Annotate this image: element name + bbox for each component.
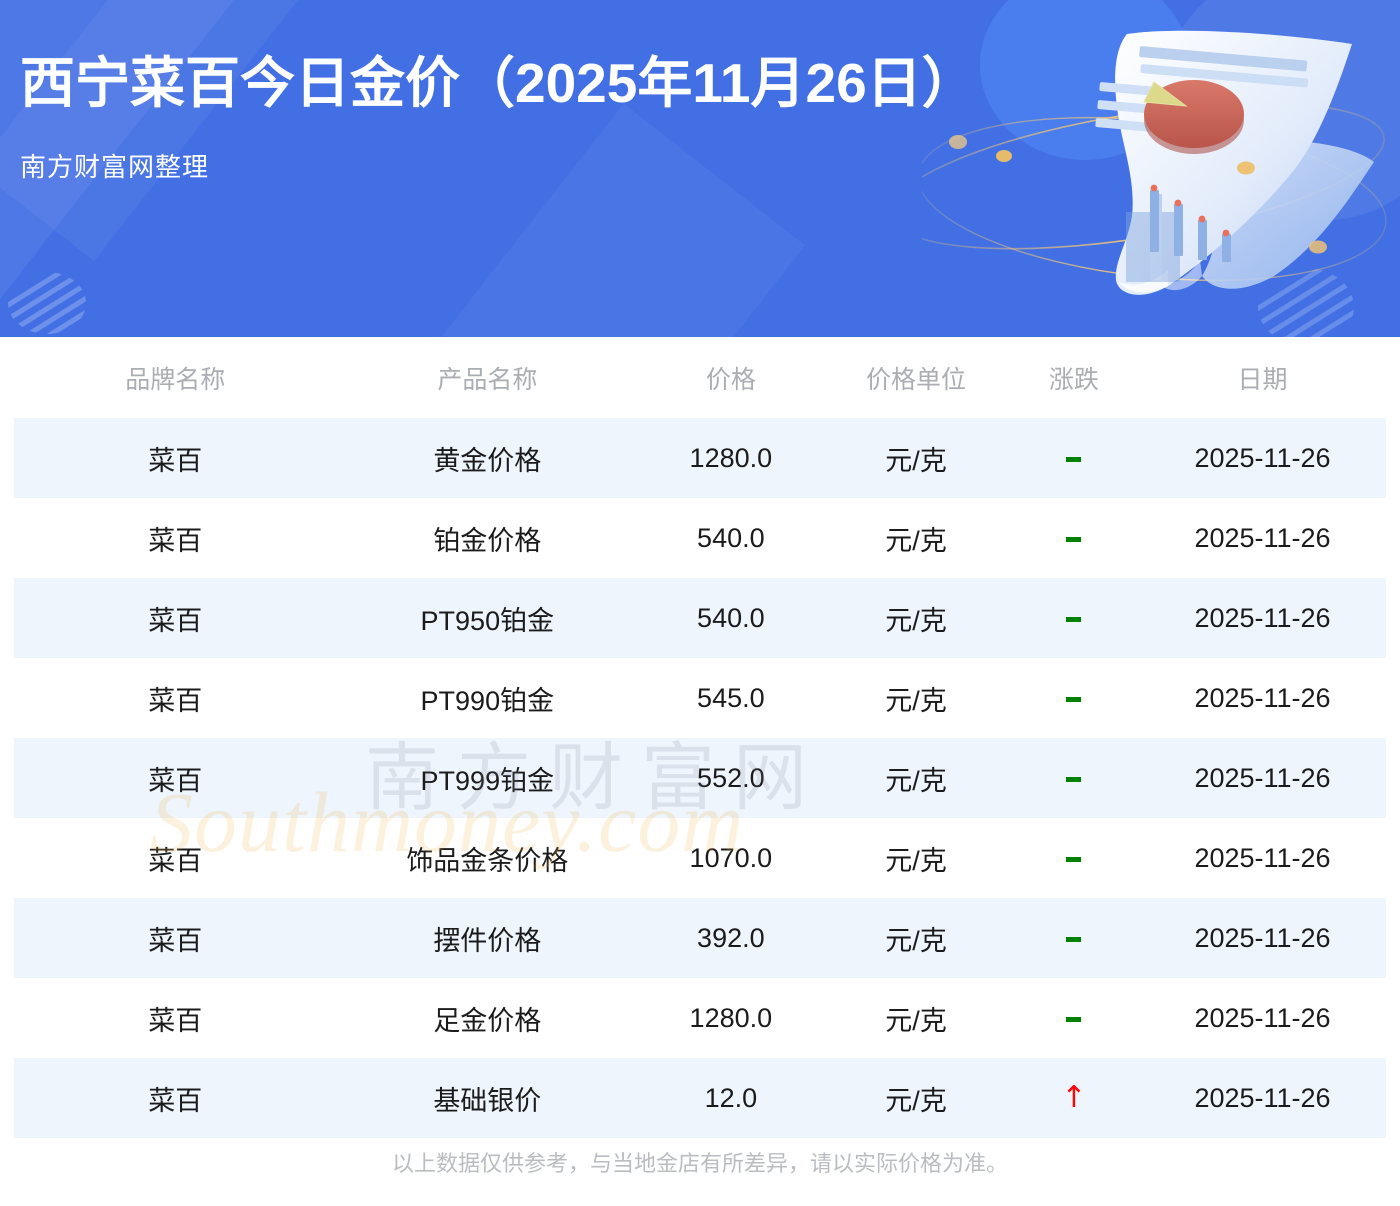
- cell-brand: 菜百: [14, 898, 336, 978]
- cell-unit: 元/克: [823, 738, 1008, 818]
- banner-text-block: 西宁菜百今日金价（2025年11月26日） 南方财富网整理: [20, 52, 977, 184]
- cell-date: 2025-11-26: [1139, 658, 1386, 738]
- column-header-brand: 品牌名称: [14, 337, 336, 418]
- cell-unit: 元/克: [823, 418, 1008, 498]
- banner-subtitle: 南方财富网整理: [20, 147, 977, 184]
- page-root: 西宁菜百今日金价（2025年11月26日） 南方财富网整理: [0, 0, 1400, 1206]
- gold-price-table: 品牌名称 产品名称 价格 价格单位 涨跌 日期 菜百黄金价格1280.0元/克2…: [14, 337, 1386, 1138]
- cell-price: 552.0: [638, 738, 823, 818]
- cell-change: [1009, 738, 1139, 818]
- cell-price: 540.0: [638, 498, 823, 578]
- report-document-illustration: [922, 0, 1392, 334]
- price-table-container: 品牌名称 产品名称 价格 价格单位 涨跌 日期 菜百黄金价格1280.0元/克2…: [0, 337, 1400, 1138]
- cell-product: 黄金价格: [336, 418, 638, 498]
- table-row: 菜百PT950铂金540.0元/克2025-11-26: [14, 578, 1386, 658]
- cell-price: 392.0: [638, 898, 823, 978]
- dash-flat-icon: [1066, 537, 1081, 542]
- dash-flat-icon: [1066, 937, 1081, 942]
- cell-product: PT999铂金: [336, 738, 638, 818]
- cell-unit: 元/克: [823, 498, 1008, 578]
- cell-date: 2025-11-26: [1139, 578, 1386, 658]
- dash-flat-icon: [1066, 697, 1081, 702]
- cell-change: [1009, 418, 1139, 498]
- cell-brand: 菜百: [14, 978, 336, 1058]
- dash-flat-icon: [1066, 457, 1081, 462]
- column-header-unit: 价格单位: [823, 337, 1008, 418]
- cell-date: 2025-11-26: [1139, 418, 1386, 498]
- cell-product: 摆件价格: [336, 898, 638, 978]
- table-header-row: 品牌名称 产品名称 价格 价格单位 涨跌 日期: [14, 337, 1386, 418]
- cell-change: [1009, 498, 1139, 578]
- page-banner: 西宁菜百今日金价（2025年11月26日） 南方财富网整理: [0, 0, 1400, 337]
- arrow-up-icon: ↑: [1061, 1080, 1086, 1115]
- cell-product: PT950铂金: [336, 578, 638, 658]
- cell-product: PT990铂金: [336, 658, 638, 738]
- table-row: 菜百基础银价12.0元/克↑2025-11-26: [14, 1058, 1386, 1138]
- cell-date: 2025-11-26: [1139, 978, 1386, 1058]
- dash-flat-icon: [1066, 617, 1081, 622]
- disclaimer-note: 以上数据仅供参考，与当地金店有所差异，请以实际价格为准。: [0, 1146, 1400, 1178]
- cell-brand: 菜百: [14, 658, 336, 738]
- cell-brand: 菜百: [14, 498, 336, 578]
- table-row: 菜百黄金价格1280.0元/克2025-11-26: [14, 418, 1386, 498]
- cell-date: 2025-11-26: [1139, 1058, 1386, 1138]
- column-header-price: 价格: [638, 337, 823, 418]
- cell-change: [1009, 898, 1139, 978]
- cell-change: [1009, 658, 1139, 738]
- table-row: 菜百足金价格1280.0元/克2025-11-26: [14, 978, 1386, 1058]
- cell-date: 2025-11-26: [1139, 738, 1386, 818]
- cell-product: 足金价格: [336, 978, 638, 1058]
- cell-price: 1280.0: [638, 978, 823, 1058]
- table-row: 菜百饰品金条价格1070.0元/克2025-11-26: [14, 818, 1386, 898]
- cell-change: [1009, 578, 1139, 658]
- cell-unit: 元/克: [823, 818, 1008, 898]
- dash-flat-icon: [1066, 777, 1081, 782]
- cell-price: 545.0: [638, 658, 823, 738]
- cell-unit: 元/克: [823, 578, 1008, 658]
- table-row: 菜百PT990铂金545.0元/克2025-11-26: [14, 658, 1386, 738]
- table-row: 菜百铂金价格540.0元/克2025-11-26: [14, 498, 1386, 578]
- cell-brand: 菜百: [14, 818, 336, 898]
- dash-flat-icon: [1066, 857, 1081, 862]
- cell-unit: 元/克: [823, 898, 1008, 978]
- table-row: 菜百摆件价格392.0元/克2025-11-26: [14, 898, 1386, 978]
- cell-date: 2025-11-26: [1139, 818, 1386, 898]
- cell-unit: 元/克: [823, 978, 1008, 1058]
- dash-flat-icon: [1066, 1017, 1081, 1022]
- table-row: 菜百PT999铂金552.0元/克2025-11-26: [14, 738, 1386, 818]
- cell-brand: 菜百: [14, 738, 336, 818]
- column-header-date: 日期: [1139, 337, 1386, 418]
- cell-unit: 元/克: [823, 658, 1008, 738]
- cell-change: [1009, 978, 1139, 1058]
- page-title: 西宁菜百今日金价（2025年11月26日）: [20, 52, 977, 115]
- cell-price: 1070.0: [638, 818, 823, 898]
- cell-date: 2025-11-26: [1139, 898, 1386, 978]
- table-body: 菜百黄金价格1280.0元/克2025-11-26菜百铂金价格540.0元/克2…: [14, 418, 1386, 1138]
- column-header-change: 涨跌: [1009, 337, 1139, 418]
- cell-price: 12.0: [638, 1058, 823, 1138]
- cell-unit: 元/克: [823, 1058, 1008, 1138]
- cell-product: 基础银价: [336, 1058, 638, 1138]
- cell-product: 铂金价格: [336, 498, 638, 578]
- cell-product: 饰品金条价格: [336, 818, 638, 898]
- striped-circle-icon: [8, 272, 86, 334]
- cell-change: ↑: [1009, 1058, 1139, 1138]
- column-header-product: 产品名称: [336, 337, 638, 418]
- cell-date: 2025-11-26: [1139, 498, 1386, 578]
- cell-price: 1280.0: [638, 418, 823, 498]
- cell-brand: 菜百: [14, 1058, 336, 1138]
- cell-price: 540.0: [638, 578, 823, 658]
- cell-change: [1009, 818, 1139, 898]
- cell-brand: 菜百: [14, 418, 336, 498]
- cell-brand: 菜百: [14, 578, 336, 658]
- table-header: 品牌名称 产品名称 价格 价格单位 涨跌 日期: [14, 337, 1386, 418]
